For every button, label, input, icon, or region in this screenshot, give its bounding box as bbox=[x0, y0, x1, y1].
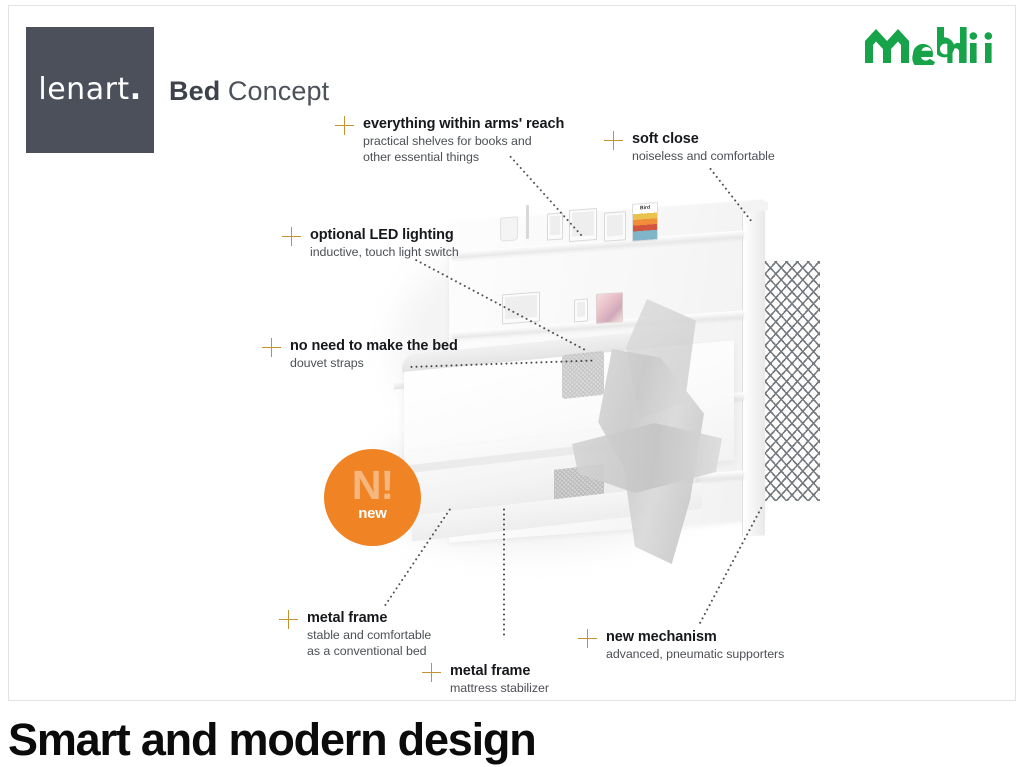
plus-icon bbox=[422, 663, 441, 682]
plus-icon bbox=[604, 131, 623, 150]
lenart-logo-text: lenart bbox=[38, 72, 129, 107]
callout-subtitle: inductive, touch light switch bbox=[310, 245, 459, 261]
callout-title: metal frame bbox=[450, 663, 530, 679]
callout-optional-led-lighting[interactable]: optional LED lighting inductive, touch l… bbox=[282, 225, 459, 261]
callout-title: optional LED lighting bbox=[310, 227, 454, 243]
new-badge-mark: N! bbox=[352, 469, 393, 503]
slide-card: lenart. Bed Concept bbox=[8, 5, 1016, 701]
leader-line-stabilizer bbox=[503, 507, 505, 637]
cabinet-side-panel bbox=[742, 207, 765, 536]
callout-subtitle: noiseless and comfortable bbox=[632, 149, 775, 165]
new-badge[interactable]: N! new bbox=[324, 449, 421, 546]
plus-icon bbox=[282, 227, 301, 246]
chevron-pattern bbox=[764, 261, 820, 501]
shelf-object-vase bbox=[500, 216, 518, 241]
plus-icon bbox=[578, 629, 597, 648]
shelf-object-frame-3 bbox=[604, 211, 626, 242]
callout-soft-close[interactable]: soft close noiseless and comfortable bbox=[604, 129, 775, 165]
callout-subtitle: stable and comfortable as a conventional… bbox=[307, 628, 431, 660]
book-title: Bird bbox=[633, 204, 657, 212]
meblini-logo-mark bbox=[863, 25, 993, 65]
shelf-object-frame-1 bbox=[547, 212, 563, 240]
shelf-object-art-1 bbox=[596, 292, 623, 324]
page-title-light: Concept bbox=[220, 76, 329, 106]
chevron-wallpaper-panel bbox=[764, 261, 820, 501]
callout-title: everything within arms' reach bbox=[363, 116, 564, 132]
lenart-logo-wordmark: lenart. bbox=[38, 72, 141, 107]
plus-icon bbox=[262, 338, 281, 357]
callout-everything-within-arms-reach[interactable]: everything within arms' reach practical … bbox=[335, 114, 564, 166]
callout-subtitle: douvet straps bbox=[290, 356, 458, 372]
callout-title: no need to make the bed bbox=[290, 338, 458, 354]
callout-metal-frame-stable[interactable]: metal frame stable and comfortable as a … bbox=[279, 608, 431, 660]
plus-icon bbox=[335, 116, 354, 135]
callout-new-mechanism[interactable]: new mechanism advanced, pneumatic suppor… bbox=[578, 627, 784, 663]
callout-subtitle: mattress stabilizer bbox=[450, 681, 549, 697]
new-badge-label: new bbox=[358, 505, 387, 522]
callout-subtitle: advanced, pneumatic supporters bbox=[606, 647, 784, 663]
shelf-object-lamp bbox=[526, 205, 529, 239]
meblini-logo bbox=[863, 25, 993, 65]
callout-subtitle: practical shelves for books and other es… bbox=[363, 134, 564, 166]
slide-headline: Smart and modern design bbox=[8, 714, 536, 766]
plus-icon bbox=[279, 610, 298, 629]
lenart-logo-box: lenart. bbox=[26, 27, 154, 153]
bed-pillow-texture bbox=[562, 351, 604, 399]
shelf-object-frame-5 bbox=[574, 298, 588, 322]
lenart-logo-dot: . bbox=[130, 72, 142, 107]
callout-title: soft close bbox=[632, 131, 699, 147]
shelf-object-book-bird: Bird bbox=[632, 202, 658, 242]
callout-no-need-to-make-the-bed[interactable]: no need to make the bed douvet straps bbox=[262, 336, 458, 372]
callout-metal-frame-stabilizer[interactable]: metal frame mattress stabilizer bbox=[422, 661, 549, 697]
page-title-bold: Bed bbox=[169, 76, 220, 106]
callout-title: metal frame bbox=[307, 610, 387, 626]
callout-title: new mechanism bbox=[606, 629, 717, 645]
page-title: Bed Concept bbox=[169, 76, 329, 107]
